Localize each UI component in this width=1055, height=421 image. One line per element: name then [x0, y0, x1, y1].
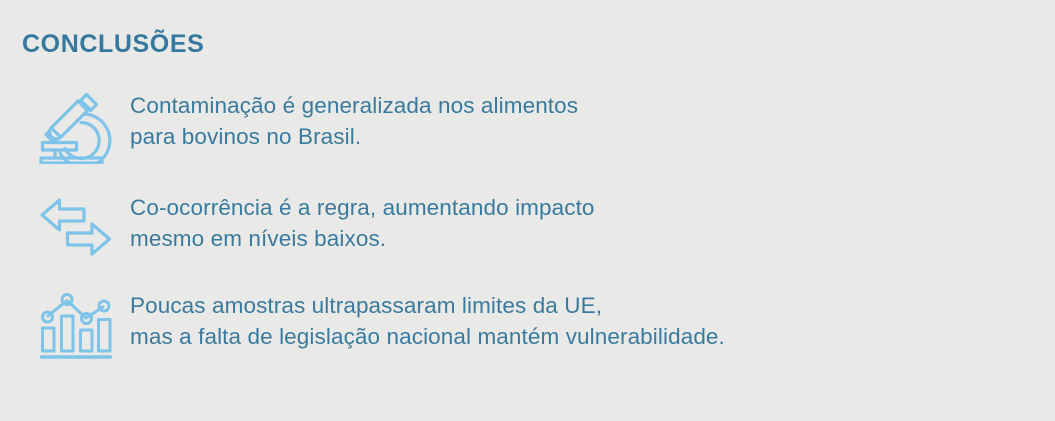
conclusions-slide: CONCLUSÕES [0, 0, 1055, 421]
microscope-icon [22, 88, 130, 164]
list-item-line-2: para bovinos no Brasil. [130, 121, 578, 152]
list-item-line-1: Co-ocorrência é a regra, aumentando impa… [130, 192, 595, 223]
list-item: Co-ocorrência é a regra, aumentando impa… [22, 190, 1032, 258]
list-item-line-2: mesmo em níveis baixos. [130, 223, 595, 254]
list-item: Contaminação é generalizada nos alimento… [22, 88, 1032, 164]
list-item-text: Co-ocorrência é a regra, aumentando impa… [130, 190, 595, 254]
list-item-text: Poucas amostras ultrapassaram limites da… [130, 288, 725, 352]
list-item-line-1: Contaminação é generalizada nos alimento… [130, 90, 578, 121]
bar-chart-trend-icon [22, 288, 130, 360]
list-item: Poucas amostras ultrapassaram limites da… [22, 288, 1032, 360]
list-item-line-1: Poucas amostras ultrapassaram limites da… [130, 290, 725, 321]
list-item-text: Contaminação é generalizada nos alimento… [130, 88, 578, 152]
page-title: CONCLUSÕES [22, 31, 204, 59]
conclusions-list: Contaminação é generalizada nos alimento… [22, 88, 1032, 360]
list-item-line-2: mas a falta de legislação nacional manté… [130, 321, 725, 352]
exchange-arrows-icon [22, 190, 130, 258]
